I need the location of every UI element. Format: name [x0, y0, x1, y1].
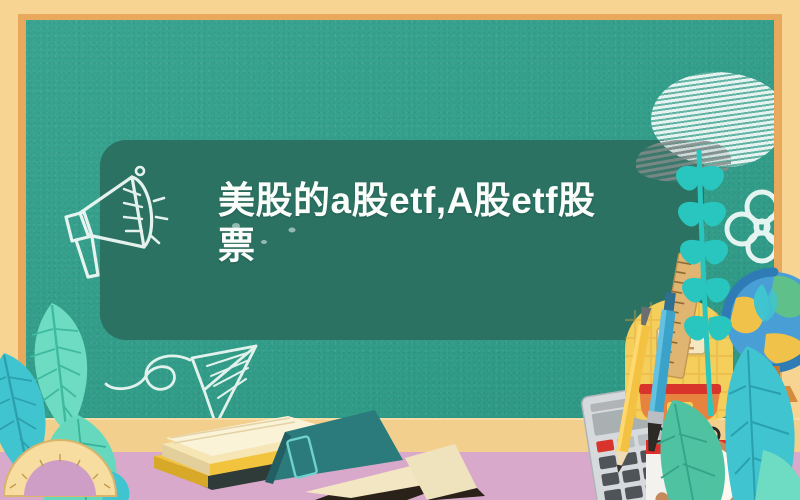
megaphone-doodle [36, 155, 176, 285]
protractor [0, 438, 126, 500]
banner-image: 美股的a股etf,A股etf股票 [0, 0, 800, 500]
plant-leaves-right [655, 150, 800, 500]
book-teal [255, 400, 505, 500]
sprout-small [742, 278, 786, 322]
page-title: 美股的a股etf,A股etf股票 [218, 178, 606, 268]
